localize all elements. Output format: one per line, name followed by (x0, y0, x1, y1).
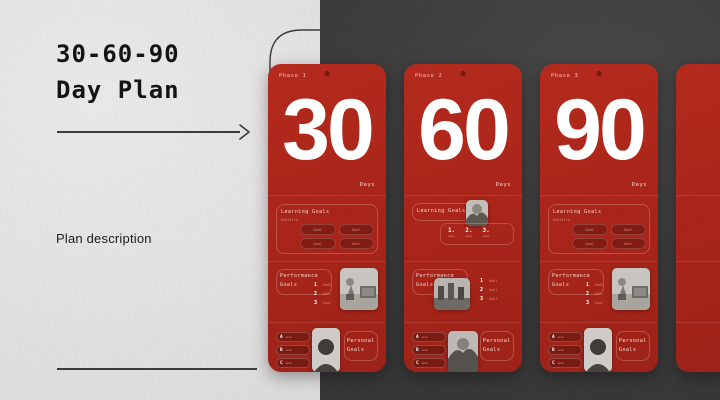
item-key: A (552, 335, 555, 340)
learning-goals-section: Learning Goals Subtitle Goal Goal Goal G… (268, 195, 386, 261)
phase-number: 30 (268, 90, 386, 172)
personal-goals-list: AGoal BGoal CGoal (276, 332, 310, 371)
phone-notch-icon (597, 71, 602, 76)
goal-pill-label: Goal (352, 242, 360, 246)
item-key: C (552, 361, 555, 366)
trio-item: 1.Goal (448, 227, 455, 238)
item-key: A (280, 335, 283, 340)
trio-item: 3.Goal (482, 227, 489, 238)
phase-label: Phase 1 (279, 73, 306, 79)
personal-goals-label: Personal Goals (619, 337, 647, 354)
performance-goals-section: Performance Goals 1Goal 2Goal 3Goal (540, 261, 658, 322)
personal-goals-label: Personal Goals (347, 337, 375, 354)
item-text: Goal (595, 292, 603, 296)
item-key: B (552, 348, 555, 353)
item-text: Goal (489, 288, 497, 292)
item-text: Goal (558, 348, 565, 352)
phase-number: 60 (404, 90, 522, 172)
personal-item[interactable]: BGoal (548, 345, 582, 355)
page-title: 30-60-90 Day Plan (56, 36, 286, 109)
goal-pill-label: Goal (624, 228, 632, 232)
goal-pill[interactable]: Goal (572, 224, 608, 235)
learning-goals-pill-grid: Goal Goal Goal Goal (572, 224, 646, 249)
bottom-connector-line (57, 368, 257, 370)
item-text: Goal (465, 234, 472, 238)
performance-goals-label: Performance Goals (280, 272, 318, 289)
phase-number: 90 (540, 90, 658, 172)
item-text: Goal (482, 234, 489, 238)
phase-unit: Days (632, 182, 647, 188)
item-number: 1 (314, 282, 319, 288)
personal-item[interactable]: CGoal (548, 358, 582, 368)
performance-photo (340, 268, 378, 310)
goal-pill[interactable]: Goal (300, 238, 336, 249)
performance-goals-label: Performance Goals (552, 272, 590, 289)
performance-goals-section (676, 261, 720, 322)
phase-card-2[interactable]: Phase 2 60 Days Learning Goals 1.Goal 2.… (404, 64, 522, 372)
goal-pill[interactable]: Goal (300, 224, 336, 235)
learning-goals-section (676, 195, 720, 261)
performance-photo (612, 268, 650, 310)
item-number: 3 (586, 300, 591, 306)
goal-pill-label: Goal (586, 242, 594, 246)
performance-photo (434, 278, 470, 310)
phase-card-3[interactable]: Phase 3 90 Days Learning Goals Subtitle … (540, 64, 658, 372)
personal-item[interactable]: CGoal (276, 358, 310, 368)
item-text: Goal (286, 348, 293, 352)
slide-canvas: 30-60-90 Day Plan Plan description Phase… (0, 0, 720, 400)
item-text: Goal (286, 361, 293, 365)
arrow-head-icon (238, 123, 252, 141)
performance-goals-section: Performance Goals 1Goal 2Goal 3Goal (404, 261, 522, 322)
phone-notch-icon (325, 71, 330, 76)
goal-pill[interactable]: Goal (572, 238, 608, 249)
performance-item: 1Goal (480, 278, 497, 284)
item-number: 2. (465, 227, 472, 234)
personal-goals-section: AGoal BGoal CGoal Personal Goals (404, 322, 522, 372)
performance-goals-section: Performance Goals 1Goal 2Goal 3Goal (268, 261, 386, 322)
learning-trio-list: 1.Goal 2.Goal 3.Goal (448, 227, 490, 238)
item-key: A (416, 335, 419, 340)
goal-pill-label: Goal (314, 228, 322, 232)
learning-goals-sub: Subtitle (281, 218, 298, 222)
phase-label: Phase 3 (551, 73, 578, 79)
goal-pill-label: Goal (314, 242, 322, 246)
item-text: Goal (489, 279, 497, 283)
item-key: B (416, 348, 419, 353)
learning-goals-section: Learning Goals 1.Goal 2.Goal 3.Goal (404, 195, 522, 261)
goal-pill[interactable]: Goal (611, 238, 647, 249)
item-text: Goal (558, 335, 565, 339)
performance-item: 2Goal (314, 291, 331, 297)
item-text: Goal (422, 348, 429, 352)
personal-goals-label: Personal Goals (483, 337, 511, 354)
goal-pill[interactable]: Goal (339, 224, 375, 235)
trio-item: 2.Goal (465, 227, 472, 238)
phase-unit: Days (496, 182, 511, 188)
item-number: 1 (586, 282, 591, 288)
phase-card-1[interactable]: Phase 1 30 Days Learning Goals Subtitle … (268, 64, 386, 372)
performance-item: 3Goal (314, 300, 331, 306)
item-number: 1. (448, 227, 455, 234)
personal-item[interactable]: BGoal (412, 345, 446, 355)
phone-notch-icon (461, 71, 466, 76)
item-number: 2 (480, 287, 485, 293)
personal-goals-list: AGoal BGoal CGoal (548, 332, 582, 371)
item-text: Goal (448, 234, 455, 238)
performance-item: 2Goal (480, 287, 497, 293)
performance-item: 1Goal (314, 282, 331, 288)
personal-goals-section: AGoal BGoal CGoal Personal Goals (540, 322, 658, 372)
item-key: C (416, 361, 419, 366)
personal-goals-section: AGoal BGoal CGoal Personal Goals (268, 322, 386, 372)
item-text: Goal (489, 297, 497, 301)
learning-goals-label: Learning Goals (553, 208, 601, 217)
item-number: 3 (480, 296, 485, 302)
performance-item: 3Goal (480, 296, 497, 302)
personal-item[interactable]: AGoal (548, 332, 582, 342)
personal-item[interactable]: AGoal (412, 332, 446, 342)
arrow-shaft (57, 131, 240, 133)
performance-items-list: 1Goal 2Goal 3Goal (480, 278, 497, 305)
personal-item[interactable]: AGoal (276, 332, 310, 342)
item-text: Goal (323, 283, 331, 287)
personal-photo (584, 328, 612, 372)
item-text: Goal (323, 301, 331, 305)
item-text: Goal (595, 301, 603, 305)
goal-pill-label: Goal (624, 242, 632, 246)
performance-item: 2Goal (586, 291, 603, 297)
item-text: Goal (286, 335, 293, 339)
plan-description: Plan description (56, 231, 152, 246)
learning-goals-label: Learning Goals (417, 207, 465, 216)
item-key: B (280, 348, 283, 353)
learning-goals-sub: Subtitle (553, 218, 570, 222)
learning-goals-label: Learning Goals (281, 208, 329, 217)
phase-unit: Days (360, 182, 375, 188)
personal-item[interactable]: CGoal (412, 358, 446, 368)
performance-item: 3Goal (586, 300, 603, 306)
item-number: 2 (586, 291, 591, 297)
learning-goals-pill-grid: Goal Goal Goal Goal (300, 224, 374, 249)
item-text: Goal (595, 283, 603, 287)
goal-pill[interactable]: Goal (339, 238, 375, 249)
goal-pill-label: Goal (586, 228, 594, 232)
goal-pill[interactable]: Goal (611, 224, 647, 235)
performance-items-list: 1Goal 2Goal 3Goal (586, 282, 603, 309)
item-number: 1 (480, 278, 485, 284)
item-key: C (280, 361, 283, 366)
learning-goals-section: Learning Goals Subtitle Goal Goal Goal G… (540, 195, 658, 261)
item-number: 3 (314, 300, 319, 306)
personal-item[interactable]: BGoal (276, 345, 310, 355)
phase-card-4-partial[interactable] (676, 64, 720, 372)
personal-photo (312, 328, 340, 372)
phase-label: Phase 2 (415, 73, 442, 79)
personal-goals-list: AGoal BGoal CGoal (412, 332, 446, 371)
item-text: Goal (422, 335, 429, 339)
performance-item: 1Goal (586, 282, 603, 288)
personal-photo (448, 331, 478, 372)
personal-goals-section (676, 322, 720, 372)
item-number: 2 (314, 291, 319, 297)
performance-items-list: 1Goal 2Goal 3Goal (314, 282, 331, 309)
item-text: Goal (558, 361, 565, 365)
item-text: Goal (422, 361, 429, 365)
goal-pill-label: Goal (352, 228, 360, 232)
item-number: 3. (482, 227, 489, 234)
item-text: Goal (323, 292, 331, 296)
